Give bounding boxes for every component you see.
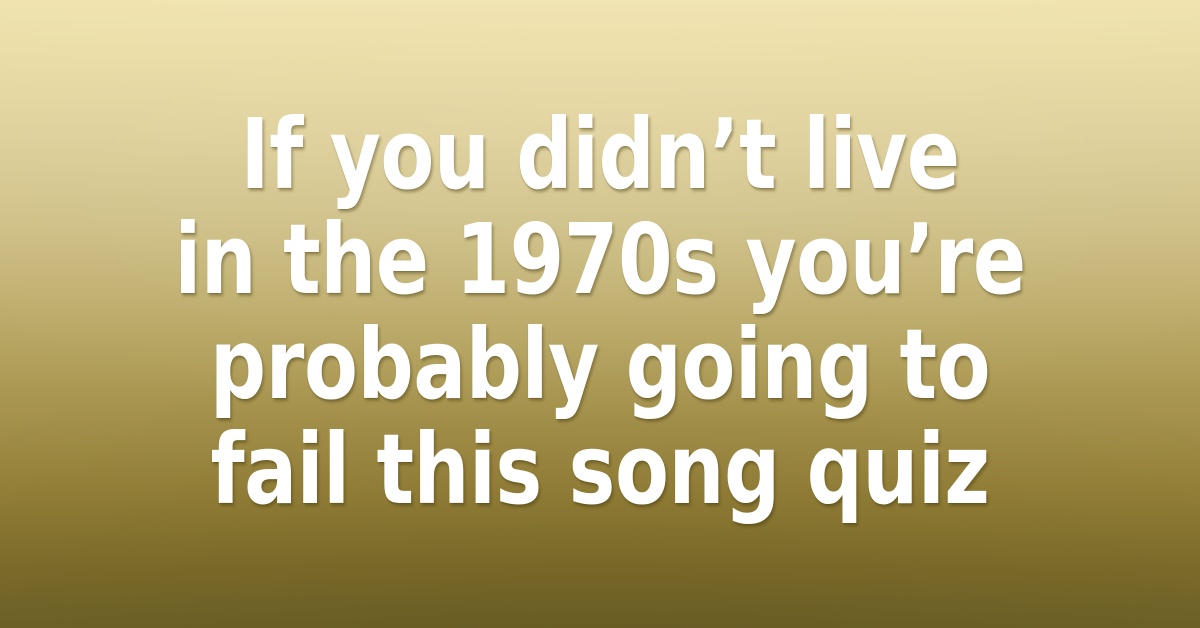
headline-line-4: fail this song quiz: [146, 417, 1055, 522]
headline-line-1: If you didn’t live: [146, 102, 1055, 207]
headline-line-3: probably going to: [146, 312, 1055, 417]
headline-text: If you didn’t live in the 1970s you’re p…: [146, 102, 1055, 526]
headline-line-2: in the 1970s you’re: [146, 207, 1055, 312]
social-share-card: If you didn’t live in the 1970s you’re p…: [0, 0, 1200, 628]
